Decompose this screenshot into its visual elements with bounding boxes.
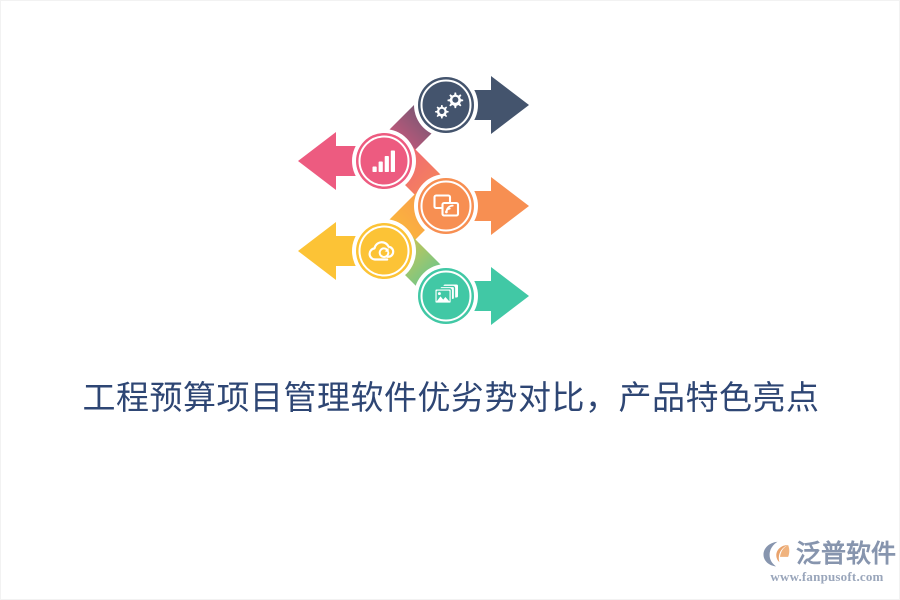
five-step-arrow-infographic [286,63,541,325]
logo-website-url: www.fanpusoft.com [765,569,889,585]
step-arrow-screen-cast[interactable] [414,174,529,238]
fanpu-logo-icon [763,540,793,568]
brand-logo[interactable]: 泛普软件 www.fanpusoft.com [763,538,889,588]
page-title: 工程预算项目管理软件优劣势对比，产品特色亮点 [1,375,900,423]
step-arrow-cloud-sync[interactable] [298,219,416,283]
step-arrow-gears[interactable] [414,73,529,137]
step-arrow-bar-chart[interactable] [298,129,416,193]
page-canvas: 工程预算项目管理软件优劣势对比，产品特色亮点 泛普软件 www.fanpusof… [0,0,900,600]
logo-brand-name: 泛普软件 [796,540,896,568]
step-arrow-photo-gallery[interactable] [414,264,529,325]
logo-row: 泛普软件 [763,538,896,570]
